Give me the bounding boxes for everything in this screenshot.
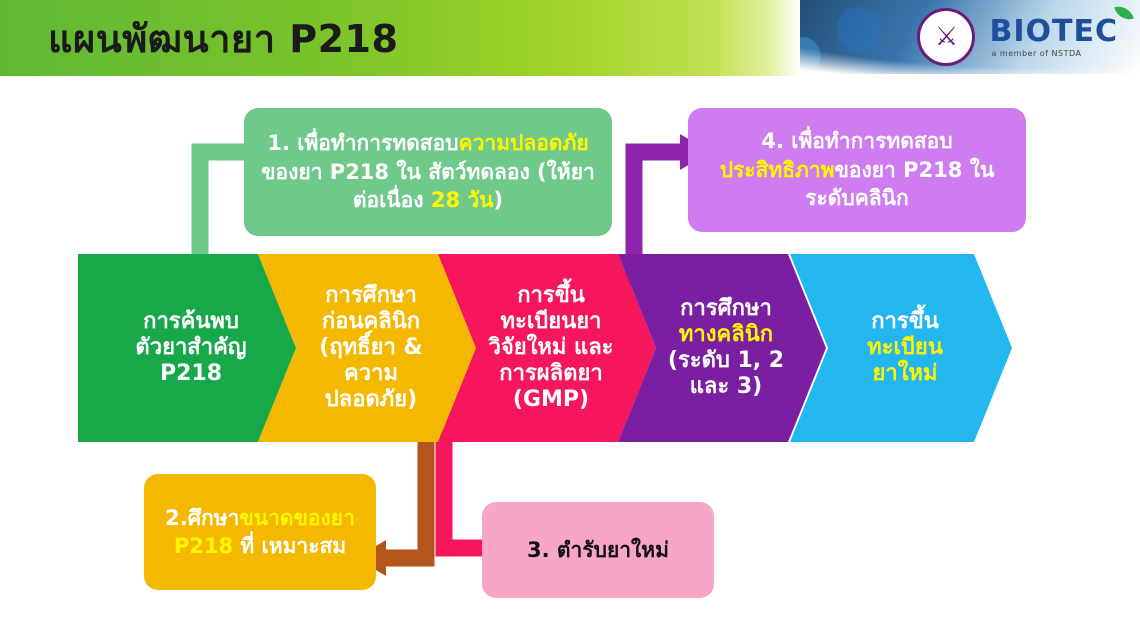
chevron-line: การศึกษา xyxy=(668,296,784,322)
chevron-line: (ระดับ 1, 2 xyxy=(668,348,784,374)
chevron-label: การขึ้นทะเบียนยาใหม่ xyxy=(867,309,943,387)
chevron-line: P218 xyxy=(135,361,246,387)
chevron-line: วิจัยใหม่ และ xyxy=(488,335,613,361)
biotec-logo: BIOTEC a member of NSTDA xyxy=(989,17,1118,58)
chevron-line: และ 3) xyxy=(668,374,784,400)
chevron-line: ก่อนคลินิก xyxy=(319,309,422,335)
text-segment: 3. ตำรับยาใหม่ xyxy=(527,538,669,562)
chevron-line: ยาใหม่ xyxy=(867,361,943,387)
chevron-line: การศึกษา xyxy=(319,283,422,309)
mahidol-seal-icon: ⚔ xyxy=(917,8,975,66)
chevron-line: การค้นพบ xyxy=(135,309,246,335)
objective-2-dose-box[interactable]: 2.ศึกษาขนาดของยา P218 ที่ เหมาะสม xyxy=(144,474,376,590)
chevron-label: การศึกษาทางคลินิก(ระดับ 1, 2และ 3) xyxy=(668,296,784,400)
chevron-label: การศึกษาก่อนคลินิก(ฤทธิ์ยา &ความปลอดภัย) xyxy=(319,283,422,413)
objective-4-text: 4. เพื่อทำการทดสอบ ประสิทธิภาพของยา P218… xyxy=(702,127,1012,212)
chevron-label: การขึ้นทะเบียนยาวิจัยใหม่ และการผลิตยา(G… xyxy=(488,283,613,413)
biotec-logo-subtitle: a member of NSTDA xyxy=(991,50,1081,58)
chevron-discovery[interactable]: การค้นพบตัวยาสำคัญP218 xyxy=(78,254,296,442)
chevron-label: การค้นพบตัวยาสำคัญP218 xyxy=(135,309,246,387)
objective-3-formulation-box[interactable]: 3. ตำรับยาใหม่ xyxy=(482,502,714,598)
biotec-wordmark: BIOTEC xyxy=(989,17,1118,47)
text-segment: 4. เพื่อทำการทดสอบ xyxy=(761,129,952,153)
chevron-line: ปลอดภัย) xyxy=(319,387,422,413)
objective-4-efficacy-box[interactable]: 4. เพื่อทำการทดสอบ ประสิทธิภาพของยา P218… xyxy=(688,108,1026,232)
objective-2-text: 2.ศึกษาขนาดของยา P218 ที่ เหมาะสม xyxy=(158,504,362,561)
text-segment: ความปลอดภัย xyxy=(459,131,589,155)
objective-1-text: 1. เพื่อทำการทดสอบความปลอดภัยของยา P218 … xyxy=(258,129,598,214)
chevron-line: ทะเบียน xyxy=(867,335,943,361)
chevron-line: ความ xyxy=(319,361,422,387)
chevron-line: การขึ้น xyxy=(867,309,943,335)
text-segment: ที่ เหมาะสม xyxy=(240,534,346,558)
text-segment: 28 วัน xyxy=(431,188,494,212)
text-segment: 1. เพื่อทำการทดสอบ xyxy=(267,131,458,155)
chevron-line: ทางคลินิก xyxy=(668,322,784,348)
logo-area: ⚔ BIOTEC a member of NSTDA xyxy=(917,8,1118,66)
chevron-line: ทะเบียนยา xyxy=(488,309,613,335)
text-segment: ของยา P218 ใน สัตว์ทดลอง (ให้ยาต่อเนื่อง xyxy=(261,160,595,212)
objective-1-safety-box[interactable]: 1. เพื่อทำการทดสอบความปลอดภัยของยา P218 … xyxy=(244,108,612,236)
objective-3-text: 3. ตำรับยาใหม่ xyxy=(527,536,669,564)
text-segment: ประสิทธิภาพ xyxy=(720,158,835,182)
chevron-line: (GMP) xyxy=(488,387,613,413)
chevron-line: ตัวยาสำคัญ xyxy=(135,335,246,361)
text-segment: ) xyxy=(494,188,504,212)
chevron-line: (ฤทธิ์ยา & xyxy=(319,335,422,361)
chevron-line: การขึ้น xyxy=(488,283,613,309)
text-segment: ของยา P218 ในระดับคลินิก xyxy=(805,158,994,210)
page-title: แผนพัฒนายา P218 xyxy=(48,8,398,69)
text-segment: 2.ศึกษา xyxy=(165,506,239,530)
chevron-line: การผลิตยา xyxy=(488,361,613,387)
